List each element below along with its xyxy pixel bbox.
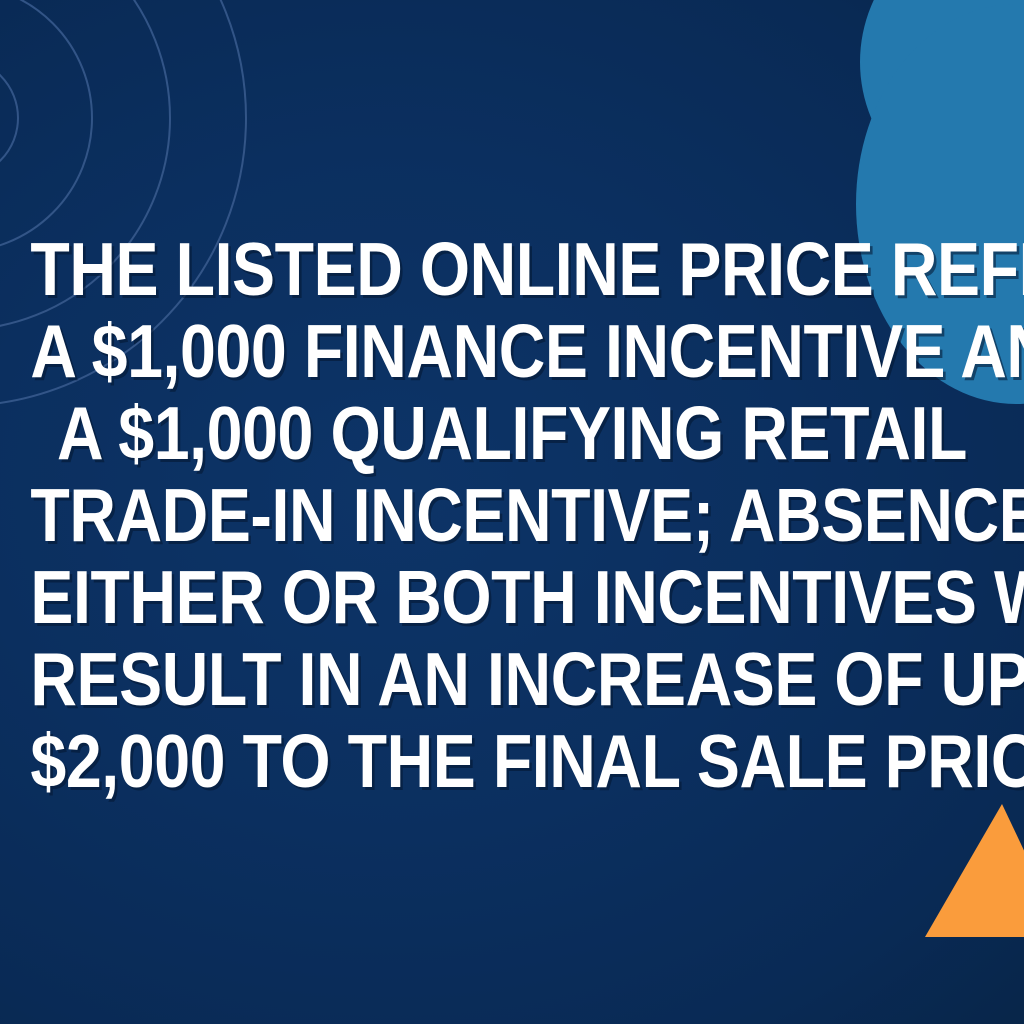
- promo-disclaimer-graphic: THE LISTED ONLINE PRICE REFLECTS A $1,00…: [0, 0, 1024, 1024]
- headline-line: TRADE-IN INCENTIVE; ABSENCE OF: [30, 474, 993, 556]
- headline-line: A $1,000 FINANCE INCENTIVE AND: [30, 310, 993, 392]
- disclaimer-headline: THE LISTED ONLINE PRICE REFLECTS A $1,00…: [0, 228, 1024, 802]
- headline-line: $2,000 TO THE FINAL SALE PRICE.: [30, 720, 993, 802]
- headline-line: THE LISTED ONLINE PRICE REFLECTS: [30, 228, 993, 310]
- headline-line: A $1,000 QUALIFYING RETAIL: [30, 392, 993, 474]
- headline-line: EITHER OR BOTH INCENTIVES WILL: [30, 556, 993, 638]
- headline-line: RESULT IN AN INCREASE OF UP TO: [30, 638, 993, 720]
